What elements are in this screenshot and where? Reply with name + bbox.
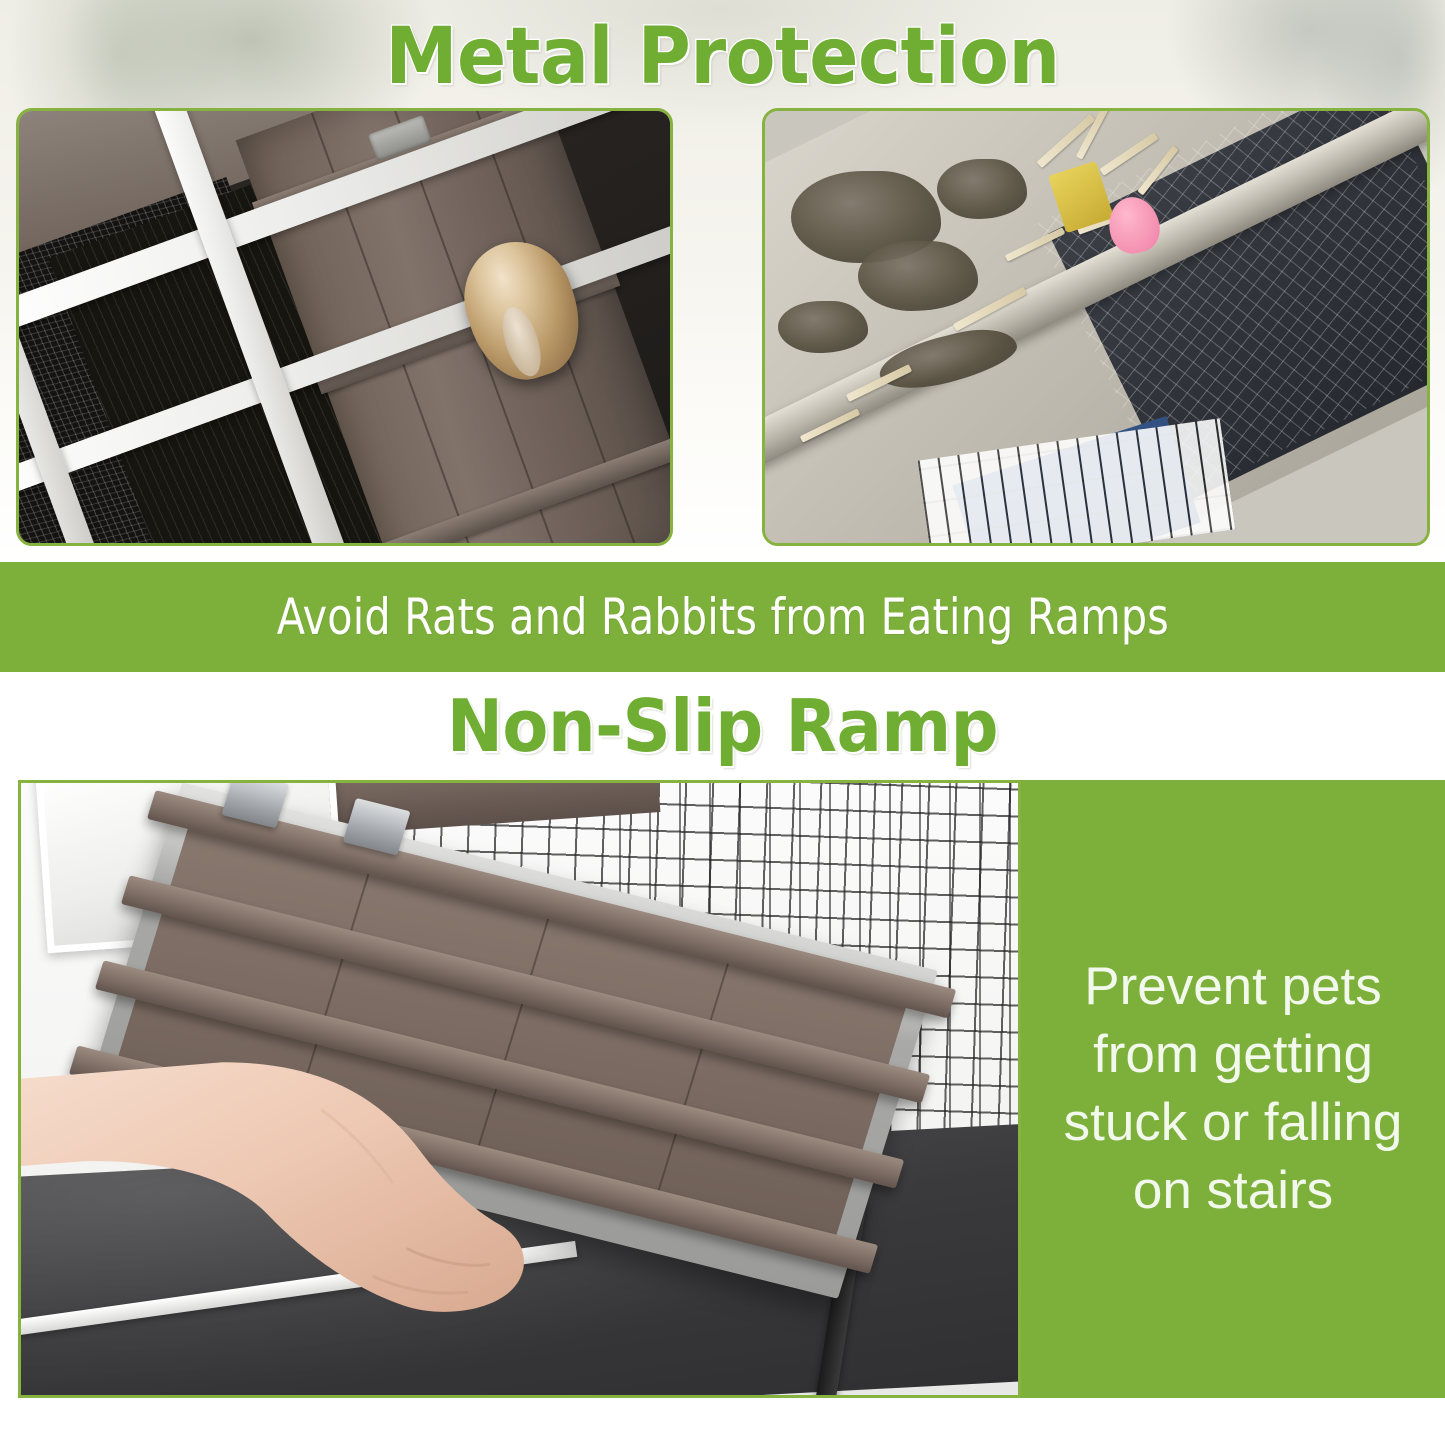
hand	[21, 783, 1018, 1395]
rabbit-on-ramp-photo-content	[19, 111, 670, 543]
callout-text: Prevent pets from getting stuck or falli…	[1021, 953, 1445, 1225]
prevent-stuck-callout: Prevent pets from getting stuck or falli…	[1021, 780, 1445, 1398]
hand-holding-ramp-photo	[18, 780, 1021, 1398]
chewed-debris	[937, 159, 1027, 219]
hand-holding-ramp-photo-content	[21, 783, 1018, 1395]
metal-protection-heading: Metal Protection	[51, 12, 1395, 102]
chewed-ramp-photo-content	[765, 111, 1427, 543]
metal-protection-section: Metal Protection	[0, 0, 1445, 562]
banner-text: Avoid Rats and Rabbits from Eating Ramps	[276, 588, 1168, 646]
non-slip-ramp-section: Non-Slip Ramp	[0, 672, 1445, 1436]
non-slip-ramp-heading: Non-Slip Ramp	[51, 684, 1395, 768]
chewed-debris	[858, 241, 978, 311]
chewed-ramp-photo	[762, 108, 1430, 546]
avoid-eating-ramps-banner: Avoid Rats and Rabbits from Eating Ramps	[0, 562, 1445, 672]
rabbit-on-ramp-photo	[16, 108, 673, 546]
chewed-debris	[778, 301, 868, 353]
infographic-page: Metal Protection	[0, 0, 1445, 1436]
